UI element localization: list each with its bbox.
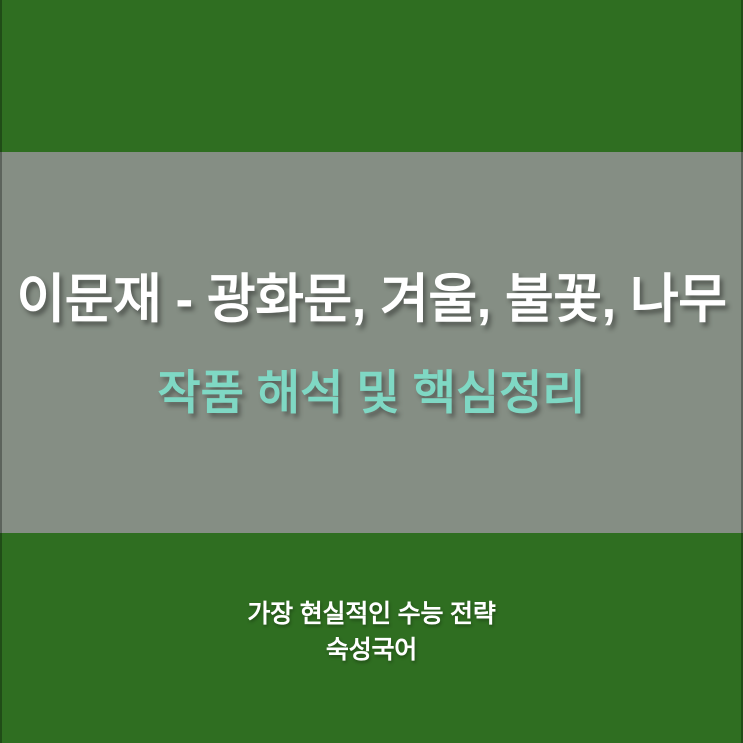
page-subtitle: 작품 해석 및 핵심정리 xyxy=(0,368,743,417)
page-title: 이문재 - 광화문, 겨울, 불꽃, 나무 xyxy=(0,272,743,328)
left-edge-rule xyxy=(0,0,2,743)
center-band xyxy=(0,152,743,533)
footer-brand: 숙성국어 xyxy=(0,633,743,669)
footer-tagline: 가장 현실적인 수능 전략 xyxy=(0,597,743,633)
footer: 가장 현실적인 수능 전략 숙성국어 xyxy=(0,597,743,668)
title-card: 이문재 - 광화문, 겨울, 불꽃, 나무 작품 해석 및 핵심정리 가장 현실… xyxy=(0,0,743,743)
